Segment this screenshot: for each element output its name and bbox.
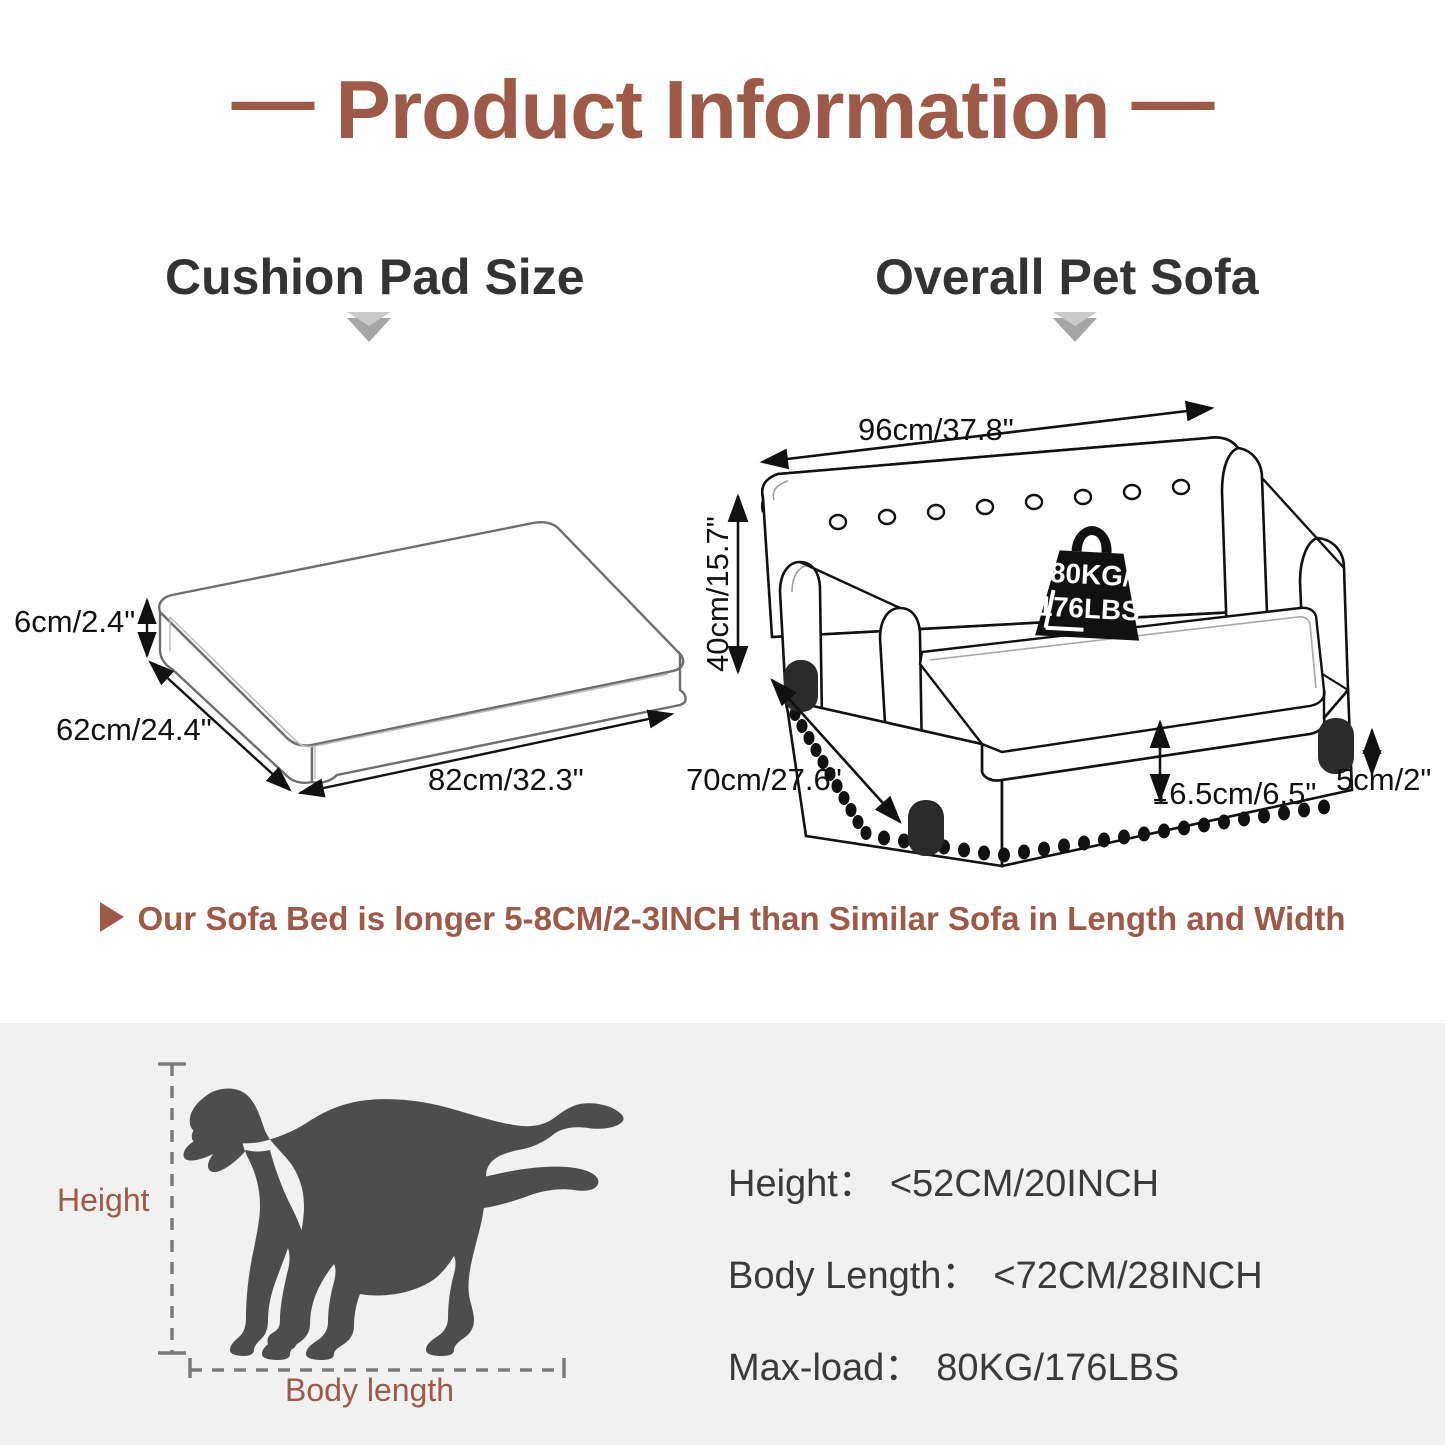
weight-tag-line1: 80KG/ [1049, 557, 1131, 592]
product-diagrams [0, 0, 1445, 1023]
spec-value-height: <52CM/20INCH [890, 1163, 1159, 1205]
play-triangle-icon [100, 902, 124, 932]
cushion-width-label: 82cm/32.3" [428, 762, 584, 798]
dog-size-diagram [150, 1048, 680, 1378]
spec-label-body-length: Body Length： [728, 1255, 979, 1297]
sofa-width-label: 96cm/37.8" [858, 412, 1014, 448]
cushion-thickness-label: 6cm/2.4" [14, 604, 135, 640]
sofa-seat-height-label: 16.5cm/6.5" [1152, 776, 1316, 812]
comparison-tagline: Our Sofa Bed is longer 5-8CM/2-3INCH tha… [0, 900, 1445, 938]
weight-tag-text: 80KG/ 176LBS [1008, 554, 1171, 630]
spec-list: Height：<52CM/20INCH Body Length：<72CM/28… [728, 1152, 1263, 1428]
dog-body-length-label: Body length [285, 1372, 454, 1409]
weight-tag-line2: 176LBS [1037, 590, 1141, 626]
sofa-depth-label: 70cm/27.6" [686, 762, 842, 798]
spec-label-max-load: Max-load： [728, 1347, 922, 1389]
spec-row-height: Height：<52CM/20INCH [728, 1152, 1263, 1207]
tagline-text: Our Sofa Bed is longer 5-8CM/2-3INCH tha… [138, 900, 1346, 937]
spec-value-max-load: 80KG/176LBS [936, 1347, 1179, 1389]
spec-row-body-length: Body Length：<72CM/28INCH [728, 1244, 1263, 1299]
max-load-weight-icon: 80KG/ 176LBS [1006, 508, 1173, 656]
spec-value-body-length: <72CM/28INCH [993, 1255, 1262, 1297]
spec-label-height: Height： [728, 1163, 876, 1205]
top-white-section: —Product Information— Cushion Pad Size O… [0, 0, 1445, 1023]
dog-height-label: Height [57, 1182, 150, 1219]
sofa-foot-height-label: 5cm/2" [1336, 762, 1431, 798]
cushion-depth-label: 62cm/24.4" [56, 712, 212, 748]
spec-row-max-load: Max-load：80KG/176LBS [728, 1336, 1263, 1391]
product-information-infographic: —Product Information— Cushion Pad Size O… [0, 0, 1445, 1445]
sofa-height-label: 40cm/15.7" [700, 516, 736, 672]
cushion-pad-illustration [147, 522, 686, 793]
